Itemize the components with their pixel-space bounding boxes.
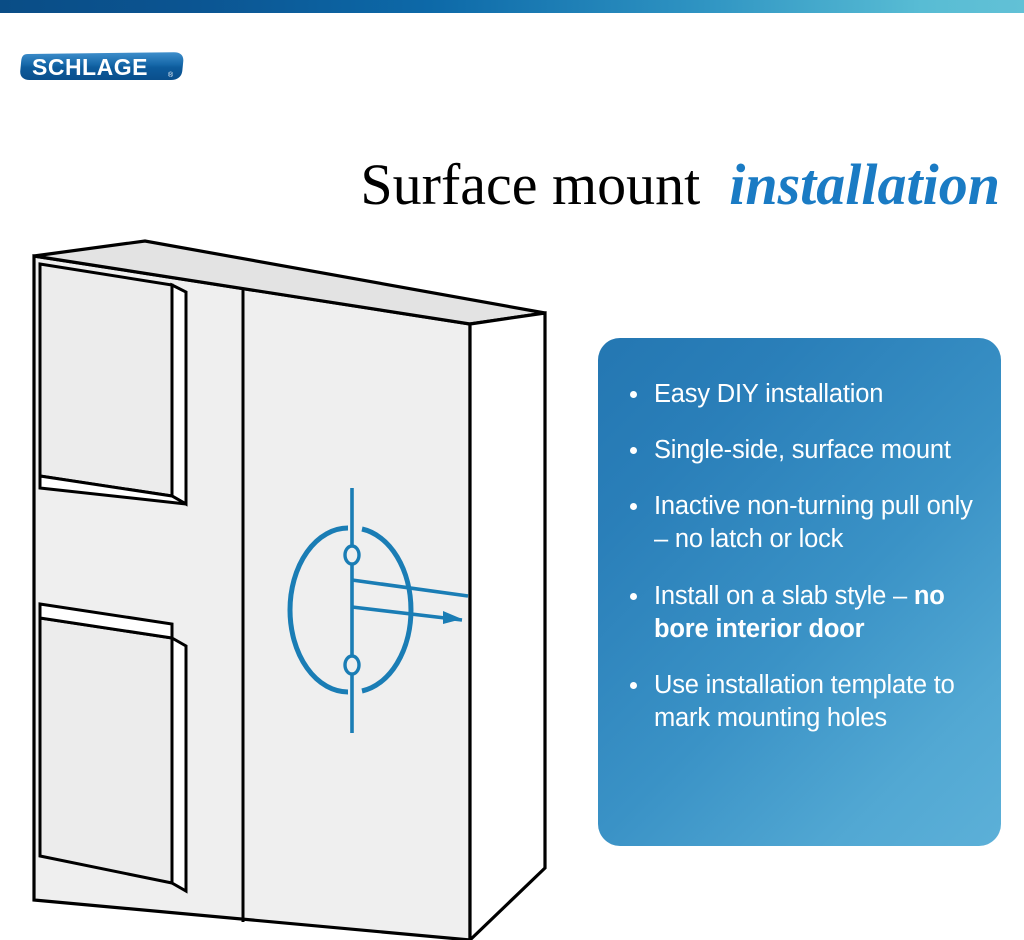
bullet-dot-icon [630,447,637,454]
logo-wordmark: SCHLAGE [32,54,148,80]
page-title-primary: Surface mount [360,152,700,217]
door-diagram-svg [0,228,580,940]
top-gradient-bar [0,0,1024,13]
list-item: Single-side, surface mount [624,434,983,467]
bullet-text: Single-side, surface mount [654,436,951,464]
page-title: Surface mount installation [0,154,1000,215]
door-upper-panel-face [40,264,172,496]
door-upper-panel-bevel-right [172,285,186,504]
marking-hole-lower [345,656,359,674]
bullet-text: Easy DIY installation [654,380,883,408]
door-illustration [0,228,580,940]
list-item: Inactive non-turning pull only – no latc… [624,490,983,556]
page-title-accent: installation [729,152,1000,217]
door-lower-panel-face [40,618,172,883]
bullet-dot-icon [630,682,637,689]
bullet-dot-icon [630,593,637,600]
surface-mount-installation-page: SCHLAGE ® Surface mount installation [0,0,1024,940]
feature-panel: Easy DIY installation Single-side, surfa… [598,338,1001,846]
list-item: Install on a slab style – no bore interi… [624,580,983,646]
list-item: Use installation template to mark mounti… [624,669,983,735]
marking-hole-upper [345,546,359,564]
door-right-edge [470,313,545,940]
feature-bullet-list: Easy DIY installation Single-side, surfa… [624,378,983,735]
door-lower-panel-bevel-right [172,638,186,891]
bullet-dot-icon [630,503,637,510]
logo-registered-mark: ® [168,71,174,79]
bullet-text: Use installation template to mark mounti… [654,671,955,732]
schlage-logo: SCHLAGE ® [16,48,188,84]
bullet-text: Inactive non-turning pull only – no latc… [654,492,973,553]
schlage-logo-icon: SCHLAGE ® [16,48,188,84]
bullet-dot-icon [630,391,637,398]
list-item: Easy DIY installation [624,378,983,411]
bullet-text: Install on a slab style – [654,582,914,610]
